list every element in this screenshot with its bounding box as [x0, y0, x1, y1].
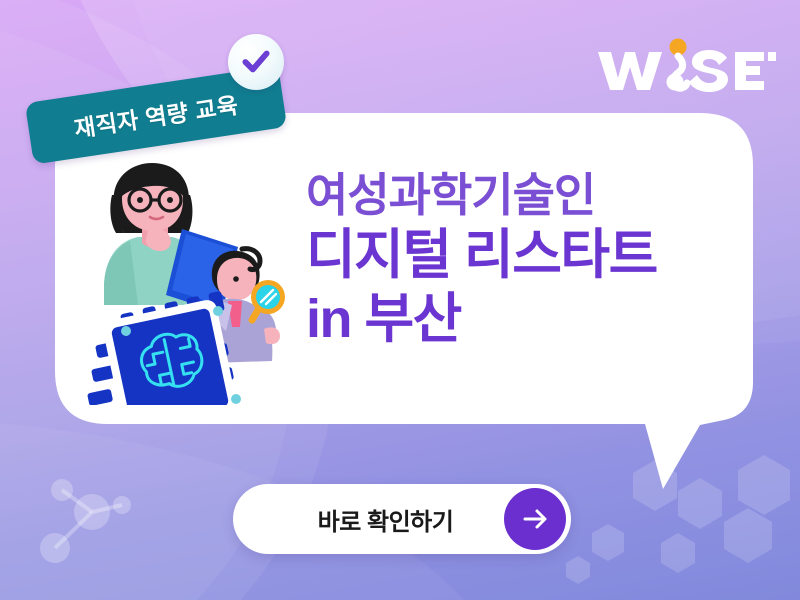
headline-block: 여성과학기술인 디지털 리스타트 in 부산	[306, 168, 726, 350]
logo-molecule-i	[667, 39, 688, 91]
cpu-chip	[87, 291, 241, 405]
headline-line-2: 디지털 리스타트	[306, 224, 726, 286]
check-icon	[228, 34, 284, 90]
headline-line-1: 여성과학기술인	[306, 168, 726, 222]
arrow-right-icon[interactable]	[504, 488, 566, 550]
promo-banner: 재직자 역량 교육	[0, 0, 800, 600]
badge-label: 재직자 역량 교육	[72, 86, 241, 144]
cta-label: 바로 확인하기	[233, 502, 504, 537]
wiset-logo	[596, 38, 776, 94]
headline-line-3: in 부산	[306, 288, 726, 350]
woman-with-tablet-figure	[104, 163, 238, 313]
hero-illustration	[86, 155, 296, 405]
cta-button[interactable]: 바로 확인하기	[233, 484, 571, 554]
